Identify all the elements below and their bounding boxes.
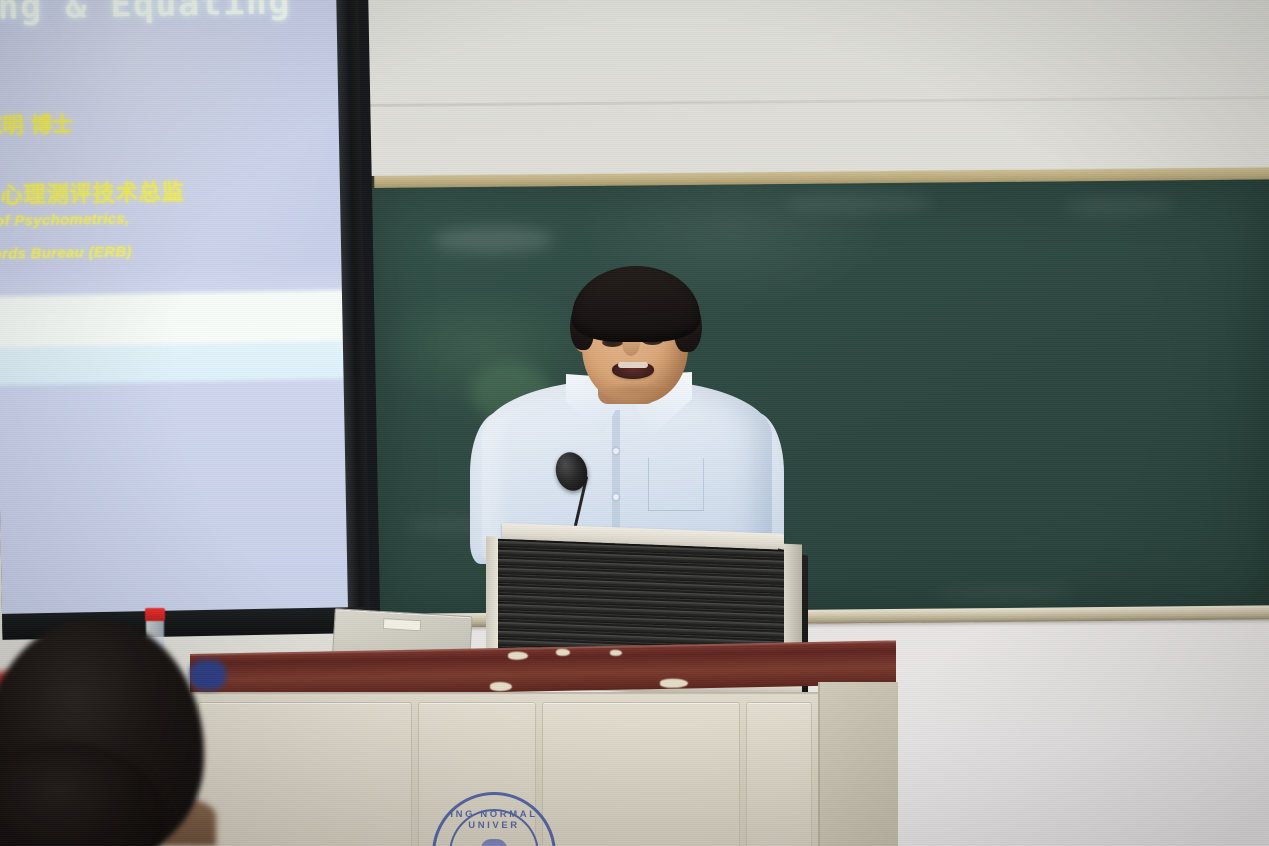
shirt-pocket — [648, 458, 704, 511]
podium-cabinet: ING NORMAL UNIVER 木 京 — [190, 692, 896, 846]
slide-role-english-line1: ector of Psychometrics, — [0, 210, 130, 230]
projected-slide: Scoring, ning & Equating 杨志明 博士 评局 心理测评技… — [0, 0, 359, 624]
chalk-smudge — [936, 585, 1076, 600]
chalk-smudge — [1062, 196, 1172, 215]
audience-blue-clothing — [190, 660, 226, 690]
teeth — [618, 362, 648, 368]
podium-right-side — [818, 682, 898, 846]
laptop-label — [383, 618, 422, 631]
podium: ING NORMAL UNIVER 木 京 — [190, 654, 896, 846]
shirt-button — [613, 448, 619, 454]
presenter-hair — [572, 266, 700, 342]
slide-role-english-line2: l Records Bureau (ERB) — [0, 243, 132, 263]
bottle-cap — [145, 608, 165, 621]
chin-shadow — [602, 382, 666, 398]
lecture-hall-photo: Scoring, ning & Equating 杨志明 博士 评局 心理测评技… — [0, 0, 1269, 846]
chalk-smudge — [433, 226, 553, 253]
chalk-smudge — [782, 191, 932, 214]
projection-screen-assembly: Scoring, ning & Equating 杨志明 博士 评局 心理测评技… — [0, 0, 380, 638]
slide-author-name: 杨志明 博士 — [0, 108, 73, 140]
podium-panel-right — [746, 702, 812, 846]
podium-panel-center-right — [542, 702, 740, 846]
slide-role-chinese: 评局 心理测评技术总监 — [0, 174, 185, 211]
podium-panel-left — [198, 702, 412, 846]
presenter — [462, 262, 792, 562]
shirt-button — [613, 494, 619, 500]
